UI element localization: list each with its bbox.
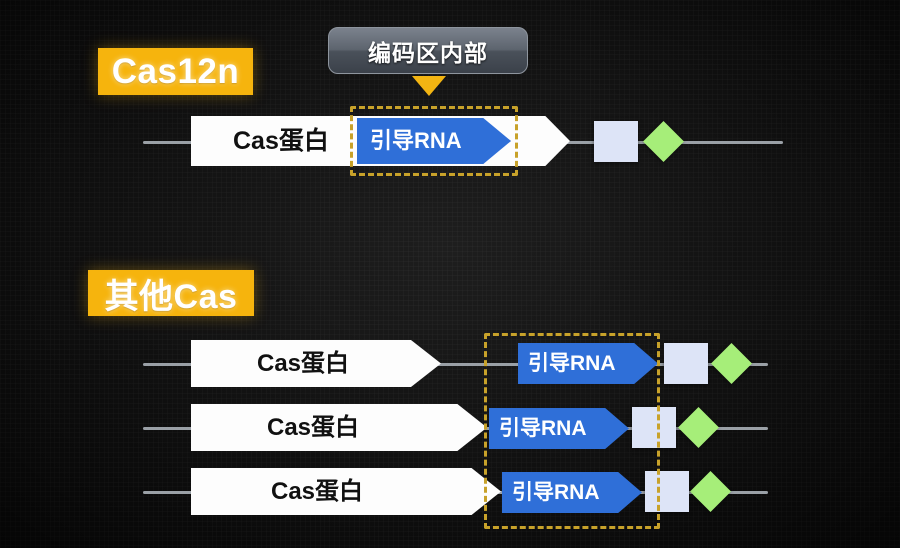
cas-protein-label: Cas蛋白 [257, 352, 349, 376]
cas-protein-label: Cas蛋白 [233, 129, 329, 154]
highlight-coding-region [350, 106, 518, 176]
callout-coding-region: 编码区内部 [328, 27, 528, 74]
pale-square-other-cas-row-1 [664, 343, 708, 384]
pale-square-cas12n-row-1 [594, 121, 638, 162]
cas-protein-arrow-other-cas-row-2: Cas蛋白 [191, 404, 487, 451]
cas-protein-label: Cas蛋白 [267, 416, 359, 440]
down-triangle-icon [412, 76, 446, 96]
cas-protein-arrow-other-cas-row-3: Cas蛋白 [191, 468, 501, 515]
diagram-canvas: Cas12n 编码区内部 Cas蛋白 引导RNA 其他Cas Cas蛋白 引导R… [0, 0, 900, 548]
cas-protein-label: Cas蛋白 [271, 480, 363, 504]
section-label-other-cas: 其他Cas [88, 270, 254, 316]
section-label-cas12n: Cas12n [98, 48, 253, 95]
cas-protein-arrow-other-cas-row-1: Cas蛋白 [191, 340, 441, 387]
highlight-guide-rna-group [484, 333, 660, 529]
